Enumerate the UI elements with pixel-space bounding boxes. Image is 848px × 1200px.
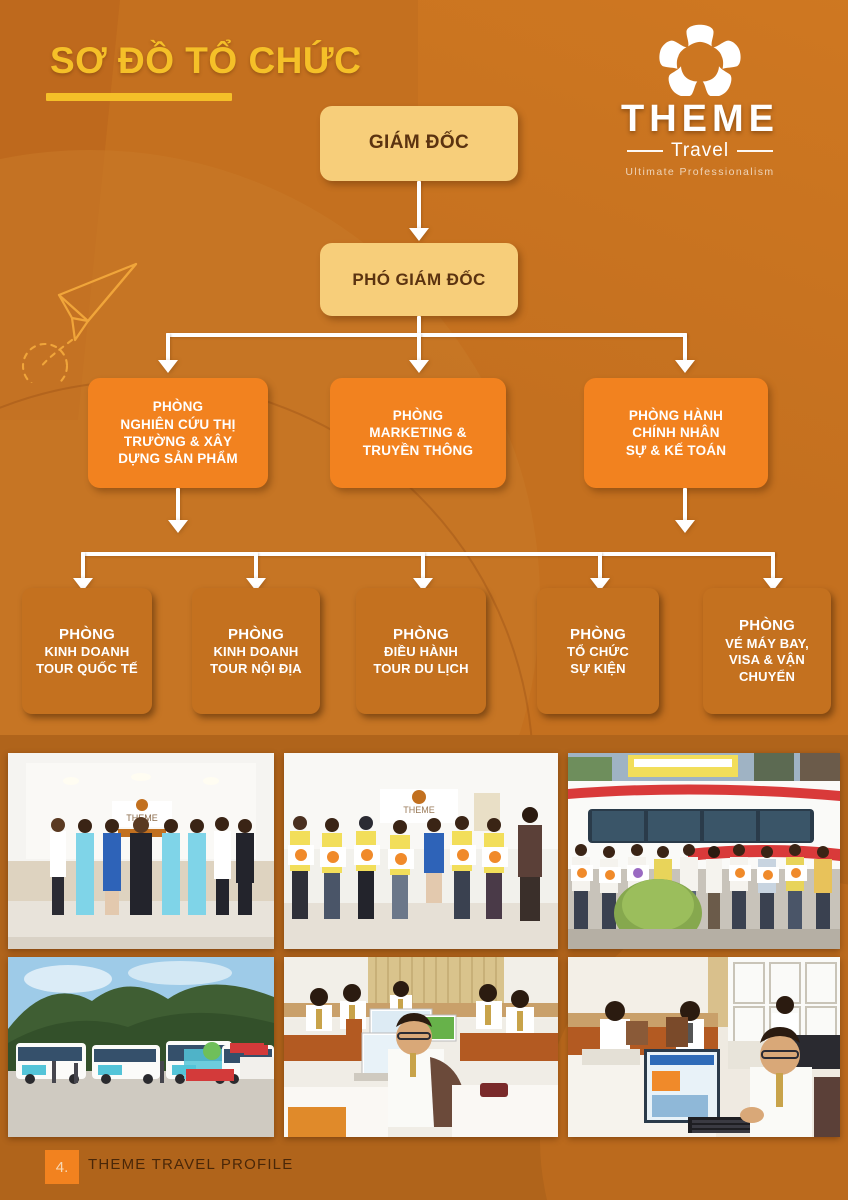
arrow-admin-to-bus <box>675 520 695 533</box>
photo-gallery: THEME <box>0 745 848 1145</box>
org-node-unit-ticketing-line1: PHÒNG <box>739 616 795 635</box>
org-node-unit-tour-operation[interactable]: PHÒNG ĐIỀU HÀNH TOUR DU LỊCH <box>356 588 486 714</box>
connector-units-bar <box>81 552 775 556</box>
org-node-unit-intl-tour[interactable]: PHÒNG KINH DOANH TOUR QUỐC TẾ <box>22 588 152 714</box>
org-node-dept-marketing-line1: PHÒNG <box>393 407 444 424</box>
org-node-dept-admin-line1: PHÒNG HÀNH <box>629 407 723 424</box>
org-node-unit-events[interactable]: PHÒNG TỔ CHỨC SỰ KIỆN <box>537 588 659 714</box>
poster-page: SƠ ĐỒ TỔ CHỨC THEME Travel Ultimate Prof… <box>0 0 848 1200</box>
org-node-unit-domestic-line3: TOUR NỘI ĐỊA <box>210 661 302 678</box>
org-node-unit-domestic-line2: KINH DOANH <box>213 644 298 661</box>
page-footer: 4. THEME TRAVEL PROFILE <box>0 1142 848 1200</box>
org-node-dept-research-line3: TRƯỜNG & XÂY <box>124 433 232 450</box>
arrow-research-to-bus <box>168 520 188 533</box>
org-node-deputy[interactable]: PHÓ GIÁM ĐỐC <box>320 243 518 316</box>
photo-team-uniform: THEME <box>8 753 274 949</box>
photo-office-desks <box>284 957 558 1137</box>
arrow-director-deputy <box>409 228 429 241</box>
org-node-unit-intl-line2: KINH DOANH <box>44 644 129 661</box>
photo-team-awards: THEME <box>284 753 558 949</box>
org-node-unit-ticketing-line2: VÉ MÁY BAY, <box>725 636 809 653</box>
photo-team-bus <box>568 753 840 949</box>
arrow-dept-marketing <box>409 360 429 373</box>
org-node-dept-research[interactable]: PHÒNG NGHIÊN CỨU THỊ TRƯỜNG & XÂY DỰNG S… <box>88 378 268 488</box>
connector-research-to-bus <box>176 488 180 524</box>
org-node-unit-operation-line3: TOUR DU LỊCH <box>373 661 468 678</box>
org-node-unit-operation-line2: ĐIỀU HÀNH <box>384 644 458 661</box>
photo-bus-fleet <box>8 957 274 1137</box>
org-node-dept-marketing[interactable]: PHÒNG MARKETING & TRUYỀN THÔNG <box>330 378 506 488</box>
page-number-badge: 4. <box>45 1150 79 1184</box>
org-node-dept-research-line4: DỰNG SẢN PHẨM <box>118 450 238 467</box>
org-node-unit-ticketing[interactable]: PHÒNG VÉ MÁY BAY, VISA & VẬN CHUYỂN <box>703 588 831 714</box>
org-node-unit-operation-line1: PHÒNG <box>393 625 449 644</box>
org-node-unit-domestic-line1: PHÒNG <box>228 625 284 644</box>
org-node-dept-research-line1: PHÒNG <box>153 398 204 415</box>
footer-label: THEME TRAVEL PROFILE <box>88 1156 293 1173</box>
org-node-deputy-line1: PHÓ GIÁM ĐỐC <box>352 269 485 291</box>
arrow-dept-admin <box>675 360 695 373</box>
arrow-dept-research <box>158 360 178 373</box>
org-node-dept-research-line2: NGHIÊN CỨU THỊ <box>120 416 235 433</box>
org-node-director[interactable]: GIÁM ĐỐC <box>320 106 518 181</box>
org-node-unit-intl-line3: TOUR QUỐC TẾ <box>36 661 138 678</box>
org-node-dept-admin[interactable]: PHÒNG HÀNH CHÍNH NHÂN SỰ & KẾ TOÁN <box>584 378 768 488</box>
org-chart: GIÁM ĐỐC PHÓ GIÁM ĐỐC PHÒNG NGHIÊN CỨU T… <box>0 0 848 735</box>
org-node-dept-marketing-line2: MARKETING & <box>369 424 466 441</box>
connector-admin-to-bus <box>683 488 687 524</box>
org-node-dept-marketing-line3: TRUYỀN THÔNG <box>363 442 473 459</box>
org-node-unit-intl-line1: PHÒNG <box>59 625 115 644</box>
org-node-unit-ticketing-line3: VISA & VẬN <box>729 652 805 669</box>
svg-text:THEME: THEME <box>403 805 435 815</box>
org-node-unit-events-line2: TỔ CHỨC <box>567 644 629 661</box>
org-node-unit-ticketing-line4: CHUYỂN <box>739 669 795 686</box>
org-node-unit-events-line1: PHÒNG <box>570 625 626 644</box>
org-node-unit-domestic-tour[interactable]: PHÒNG KINH DOANH TOUR NỘI ĐỊA <box>192 588 320 714</box>
photo-office-pc <box>568 957 840 1137</box>
org-node-director-line1: GIÁM ĐỐC <box>369 131 469 155</box>
connector-departments-bar <box>166 333 687 337</box>
org-node-dept-admin-line3: SỰ & KẾ TOÁN <box>626 442 726 459</box>
connector-director-deputy <box>417 181 421 232</box>
org-node-dept-admin-line2: CHÍNH NHÂN <box>632 424 720 441</box>
org-node-unit-events-line3: SỰ KIỆN <box>570 661 626 678</box>
